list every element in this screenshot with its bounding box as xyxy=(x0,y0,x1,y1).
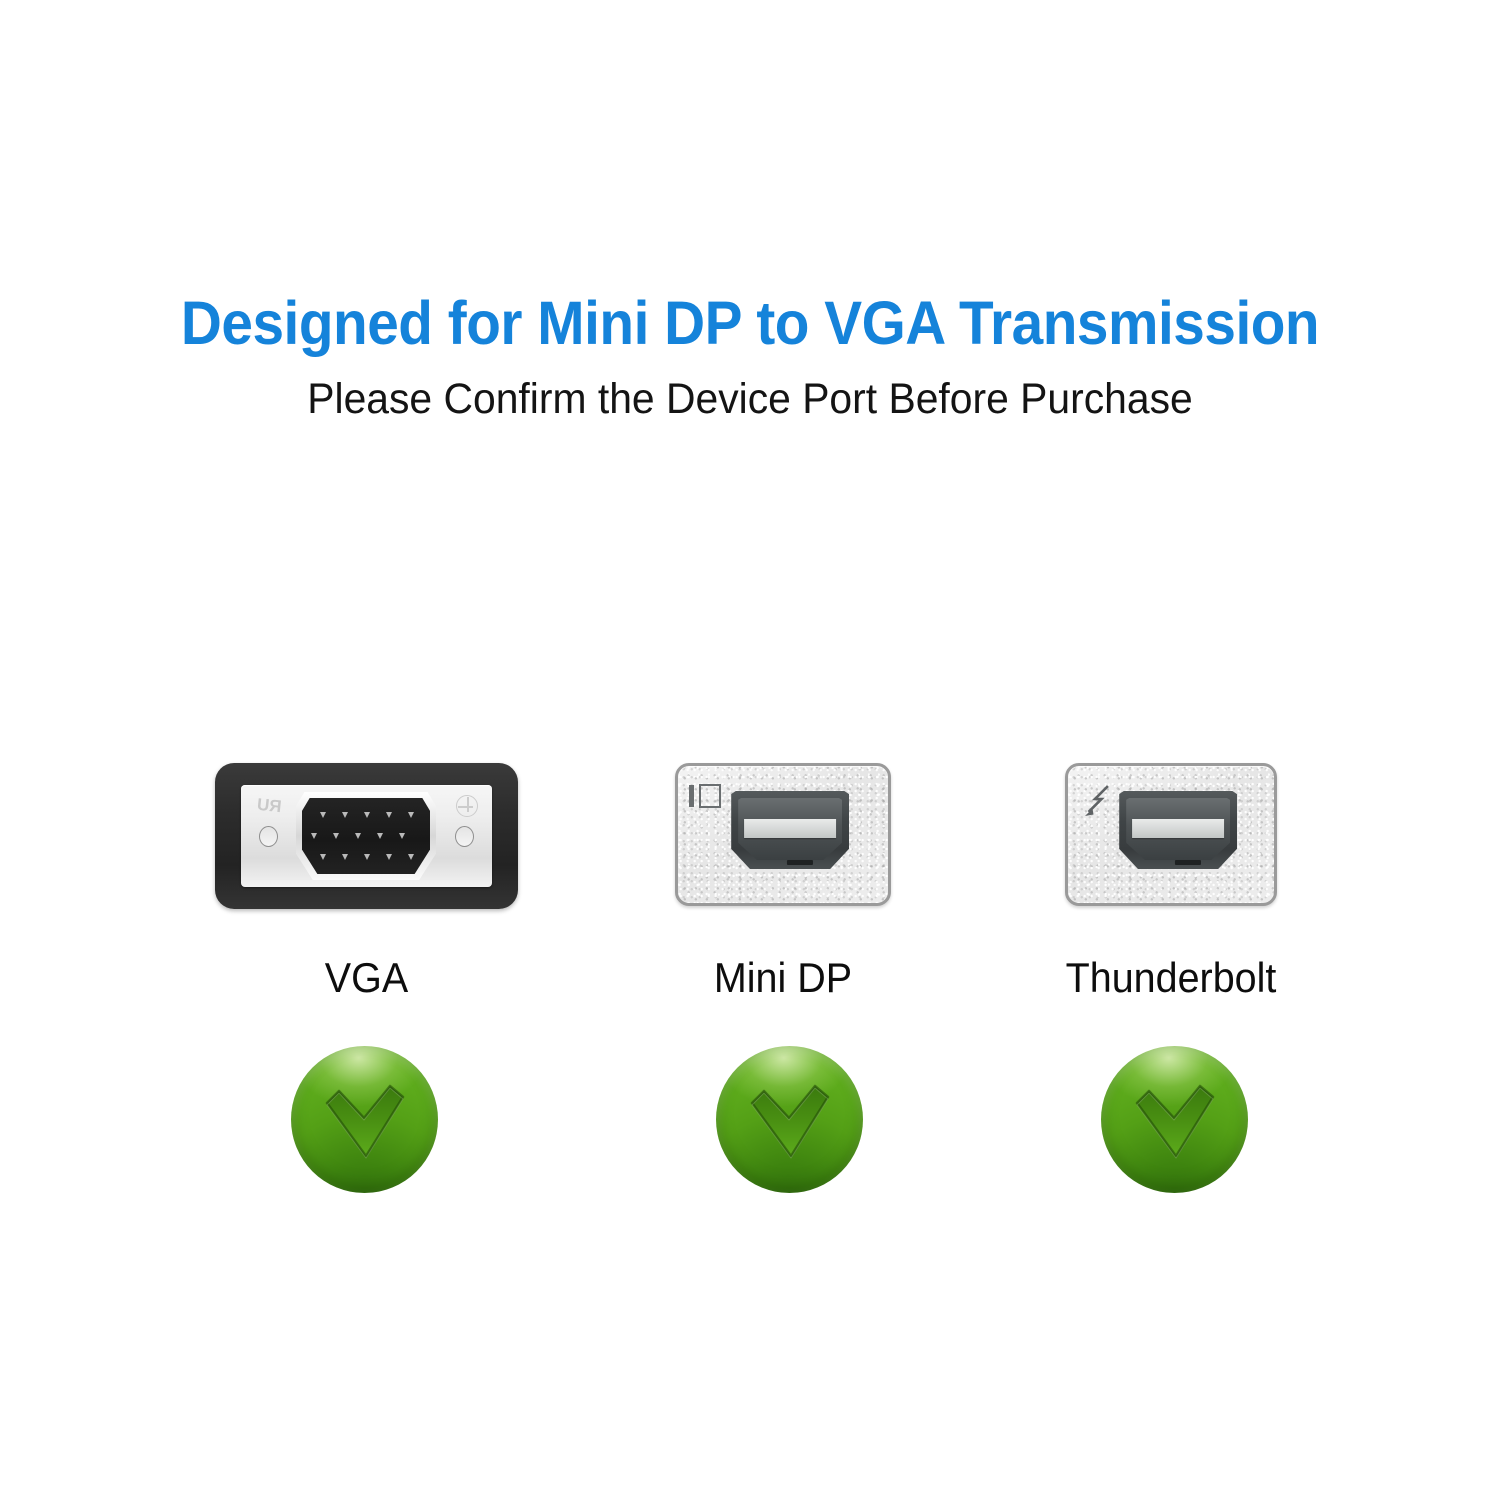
vga-pin xyxy=(408,854,414,860)
thunderbolt-panel xyxy=(1065,763,1277,906)
page-subtitle: Please Confirm the Device Port Before Pu… xyxy=(38,374,1463,424)
vga-dsub-opening xyxy=(296,792,436,880)
compatibility-check-row xyxy=(0,1046,1500,1196)
green-check-circle-icon-vga xyxy=(291,1046,438,1193)
page-title: Designed for Mini DP to VGA Transmission xyxy=(53,288,1448,358)
vga-pin xyxy=(311,833,317,839)
thunderbolt-socket-tongue xyxy=(1132,819,1224,838)
port-illustration-thunderbolt xyxy=(1065,763,1277,913)
vga-screw-hole-left xyxy=(259,826,278,847)
vga-pin xyxy=(320,812,326,818)
thunderbolt-socket xyxy=(1119,791,1237,869)
vga-pin xyxy=(377,833,383,839)
vga-pin xyxy=(386,812,392,818)
vga-connector-plate: RU xyxy=(241,785,492,887)
vga-pin xyxy=(364,812,370,818)
vga-pin xyxy=(386,854,392,860)
vga-pin xyxy=(342,812,348,818)
thunderbolt-socket-notch xyxy=(1175,860,1201,865)
ul-listed-mark-icon: RU xyxy=(256,796,282,815)
mini-dp-panel xyxy=(675,763,891,906)
vga-pin xyxy=(355,833,361,839)
vga-connector-shell: RU xyxy=(215,763,518,909)
vga-pin xyxy=(399,833,405,839)
certification-mark-icon xyxy=(456,795,478,817)
mini-dp-socket-tongue xyxy=(744,819,836,838)
green-check-circle-icon-mini-dp xyxy=(716,1046,863,1193)
lightning-bolt-icon xyxy=(1081,784,1111,818)
mini-dp-socket xyxy=(731,791,849,869)
vga-screw-hole-right xyxy=(455,826,474,847)
port-illustration-mini-dp xyxy=(675,763,891,913)
port-label-vga: VGA xyxy=(224,952,509,1004)
vga-pin xyxy=(342,854,348,860)
vga-pin xyxy=(408,812,414,818)
port-illustration-vga: RU xyxy=(215,763,518,913)
green-check-circle-icon-thunderbolt xyxy=(1101,1046,1248,1193)
vga-pin xyxy=(364,854,370,860)
port-label-mini-dp: Mini DP xyxy=(681,952,884,1004)
port-illustration-row: RU xyxy=(0,763,1500,913)
product-infographic: { "headings": { "title": "Designed for M… xyxy=(0,0,1500,1500)
port-label-row: VGA Mini DP Thunderbolt xyxy=(0,952,1500,1008)
mini-dp-socket-notch xyxy=(787,860,813,865)
port-label-thunderbolt: Thunderbolt xyxy=(1034,952,1308,1004)
heading-block: Designed for Mini DP to VGA Transmission… xyxy=(0,288,1500,424)
vga-pin xyxy=(320,854,326,860)
vga-pin xyxy=(333,833,339,839)
vga-dsub-cavity xyxy=(302,798,430,874)
